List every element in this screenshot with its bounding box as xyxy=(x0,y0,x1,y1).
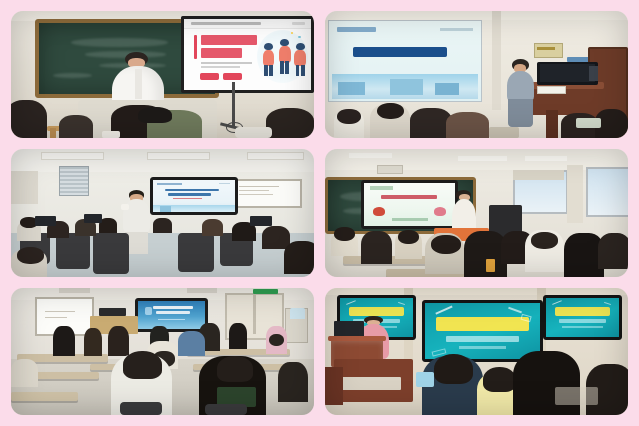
audience-head xyxy=(53,326,74,357)
slide-title xyxy=(381,195,437,200)
photo-2[interactable] xyxy=(325,11,628,138)
slide-title-line1 xyxy=(165,189,219,192)
photo-5[interactable] xyxy=(11,288,314,415)
window-blinds xyxy=(59,166,88,196)
slide-title-line1 xyxy=(153,306,193,309)
audience-head xyxy=(598,233,628,269)
audience-head xyxy=(108,326,129,357)
audience-head xyxy=(202,219,223,236)
audience-head xyxy=(446,112,488,139)
slide-title-line2 xyxy=(168,193,211,196)
audience-head xyxy=(229,323,247,348)
tv-center-subtitle xyxy=(446,336,520,342)
exit-sign xyxy=(253,289,277,294)
audience-head xyxy=(361,231,391,264)
tv-right xyxy=(543,295,622,339)
tv-right-title xyxy=(555,307,610,315)
photo-6[interactable] xyxy=(325,288,628,415)
audience-head xyxy=(178,331,205,356)
monitor xyxy=(250,216,271,226)
photo-3[interactable] xyxy=(11,149,314,276)
audience-head xyxy=(11,359,38,387)
slide-tag-right xyxy=(223,73,242,79)
slide-title-line2 xyxy=(201,48,242,58)
tv-center-title xyxy=(436,317,528,332)
wall-display xyxy=(135,298,208,332)
audience-head xyxy=(11,100,47,138)
photo-collage xyxy=(0,0,639,426)
wall-speaker xyxy=(377,165,403,175)
audience-head xyxy=(59,115,92,138)
monitor xyxy=(35,216,56,226)
audience-head xyxy=(278,362,308,403)
bottle xyxy=(416,372,434,387)
slide-tag-left xyxy=(200,73,219,79)
slide-subtitle xyxy=(392,218,428,221)
monitor xyxy=(84,214,102,223)
slide-title-line2 xyxy=(156,311,191,314)
presenter xyxy=(507,59,534,125)
bottle xyxy=(486,259,495,272)
audience-head xyxy=(513,351,580,415)
audience-head xyxy=(284,241,314,274)
audience-head xyxy=(262,226,289,249)
tv-center xyxy=(422,300,543,362)
monitor xyxy=(99,308,126,316)
flat-panel-display xyxy=(361,180,458,229)
audience-head xyxy=(153,218,171,233)
slide-title xyxy=(353,47,447,57)
slide-logo xyxy=(337,27,376,32)
audience-head xyxy=(266,108,314,139)
papers xyxy=(340,377,401,390)
slide-screen xyxy=(181,16,314,93)
photo-1[interactable] xyxy=(11,11,314,138)
whiteboard xyxy=(231,179,302,208)
slide-title-line1 xyxy=(201,35,257,45)
projection-screen xyxy=(328,20,482,102)
tv-left-title xyxy=(349,307,404,315)
audience-head xyxy=(84,328,102,356)
photo-4[interactable] xyxy=(325,149,628,276)
